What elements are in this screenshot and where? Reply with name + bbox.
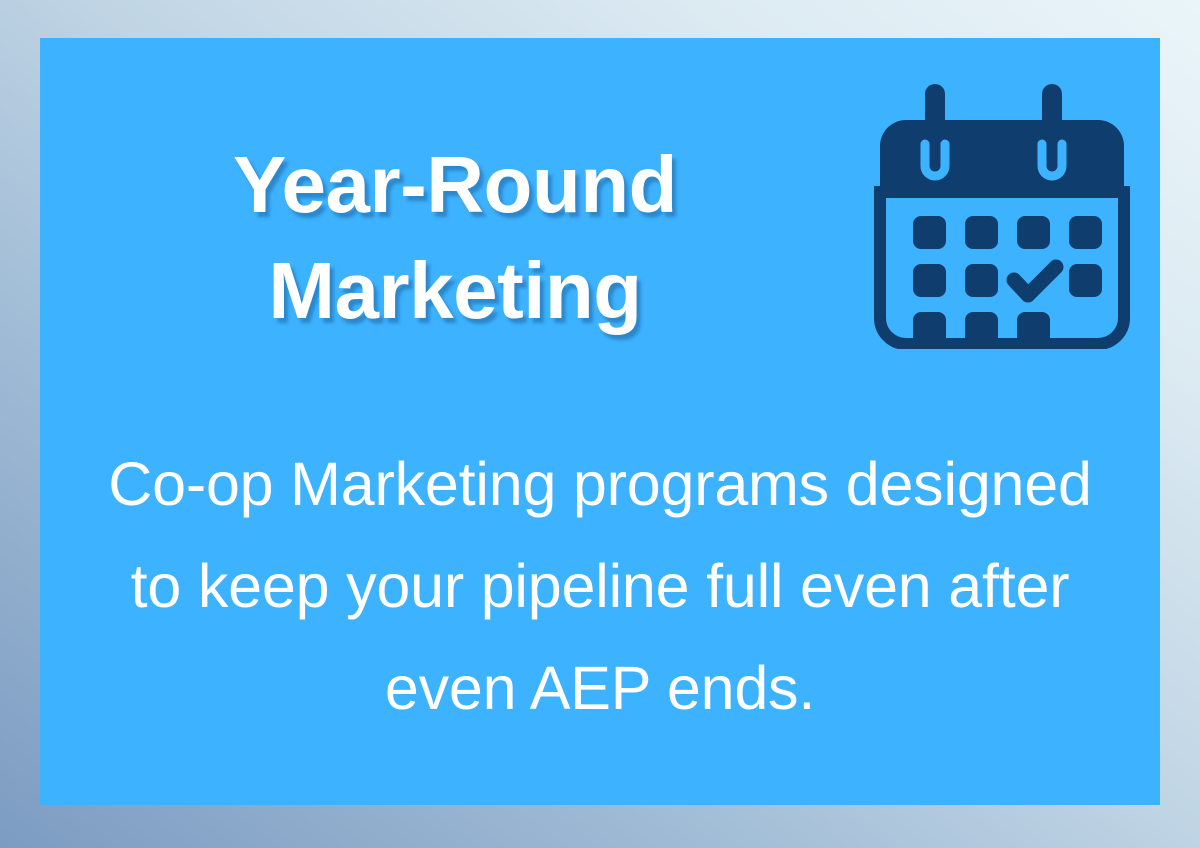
card-body-text: Co-op Marketing programs designed to kee… bbox=[90, 434, 1110, 740]
page-canvas: Year-Round Marketing bbox=[0, 0, 1200, 848]
page-title: Year-Round Marketing bbox=[40, 132, 870, 345]
promo-card: Year-Round Marketing bbox=[40, 38, 1160, 805]
calendar-check-icon bbox=[872, 84, 1132, 349]
calendar-checkmark-icon bbox=[1014, 267, 1056, 295]
calendar-header-band bbox=[880, 120, 1124, 194]
